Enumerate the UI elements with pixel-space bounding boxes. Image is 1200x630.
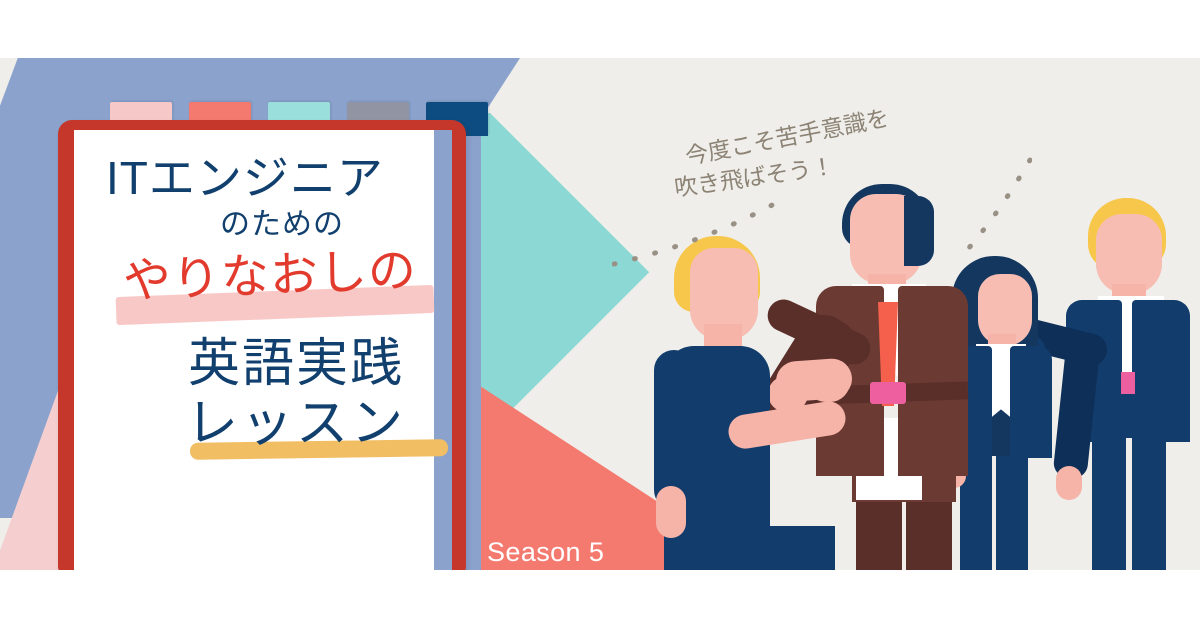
- title-line-notameno: のための: [92, 202, 442, 247]
- title-line-lesson-wrap: レッスン: [92, 395, 442, 467]
- title-line-lesson: レッスン: [92, 395, 442, 455]
- banner-canvas: Season 5: [0, 0, 1200, 630]
- title-line-it-engineer: ITエンジニア: [92, 154, 442, 202]
- title-line-eigo-jissen: 英語実践: [92, 335, 442, 395]
- season-label: Season 5: [487, 537, 604, 568]
- title-block: ITエンジニア のための やりなおしの 英語実践 レッスン: [92, 154, 442, 467]
- title-line-yarinaoshi-wrap: やりなおしの: [92, 251, 442, 329]
- banner-artwork: Season 5: [0, 58, 1200, 570]
- catch-copy: 今度こそ苦手意識を 吹き飛ばそう！: [660, 110, 1000, 220]
